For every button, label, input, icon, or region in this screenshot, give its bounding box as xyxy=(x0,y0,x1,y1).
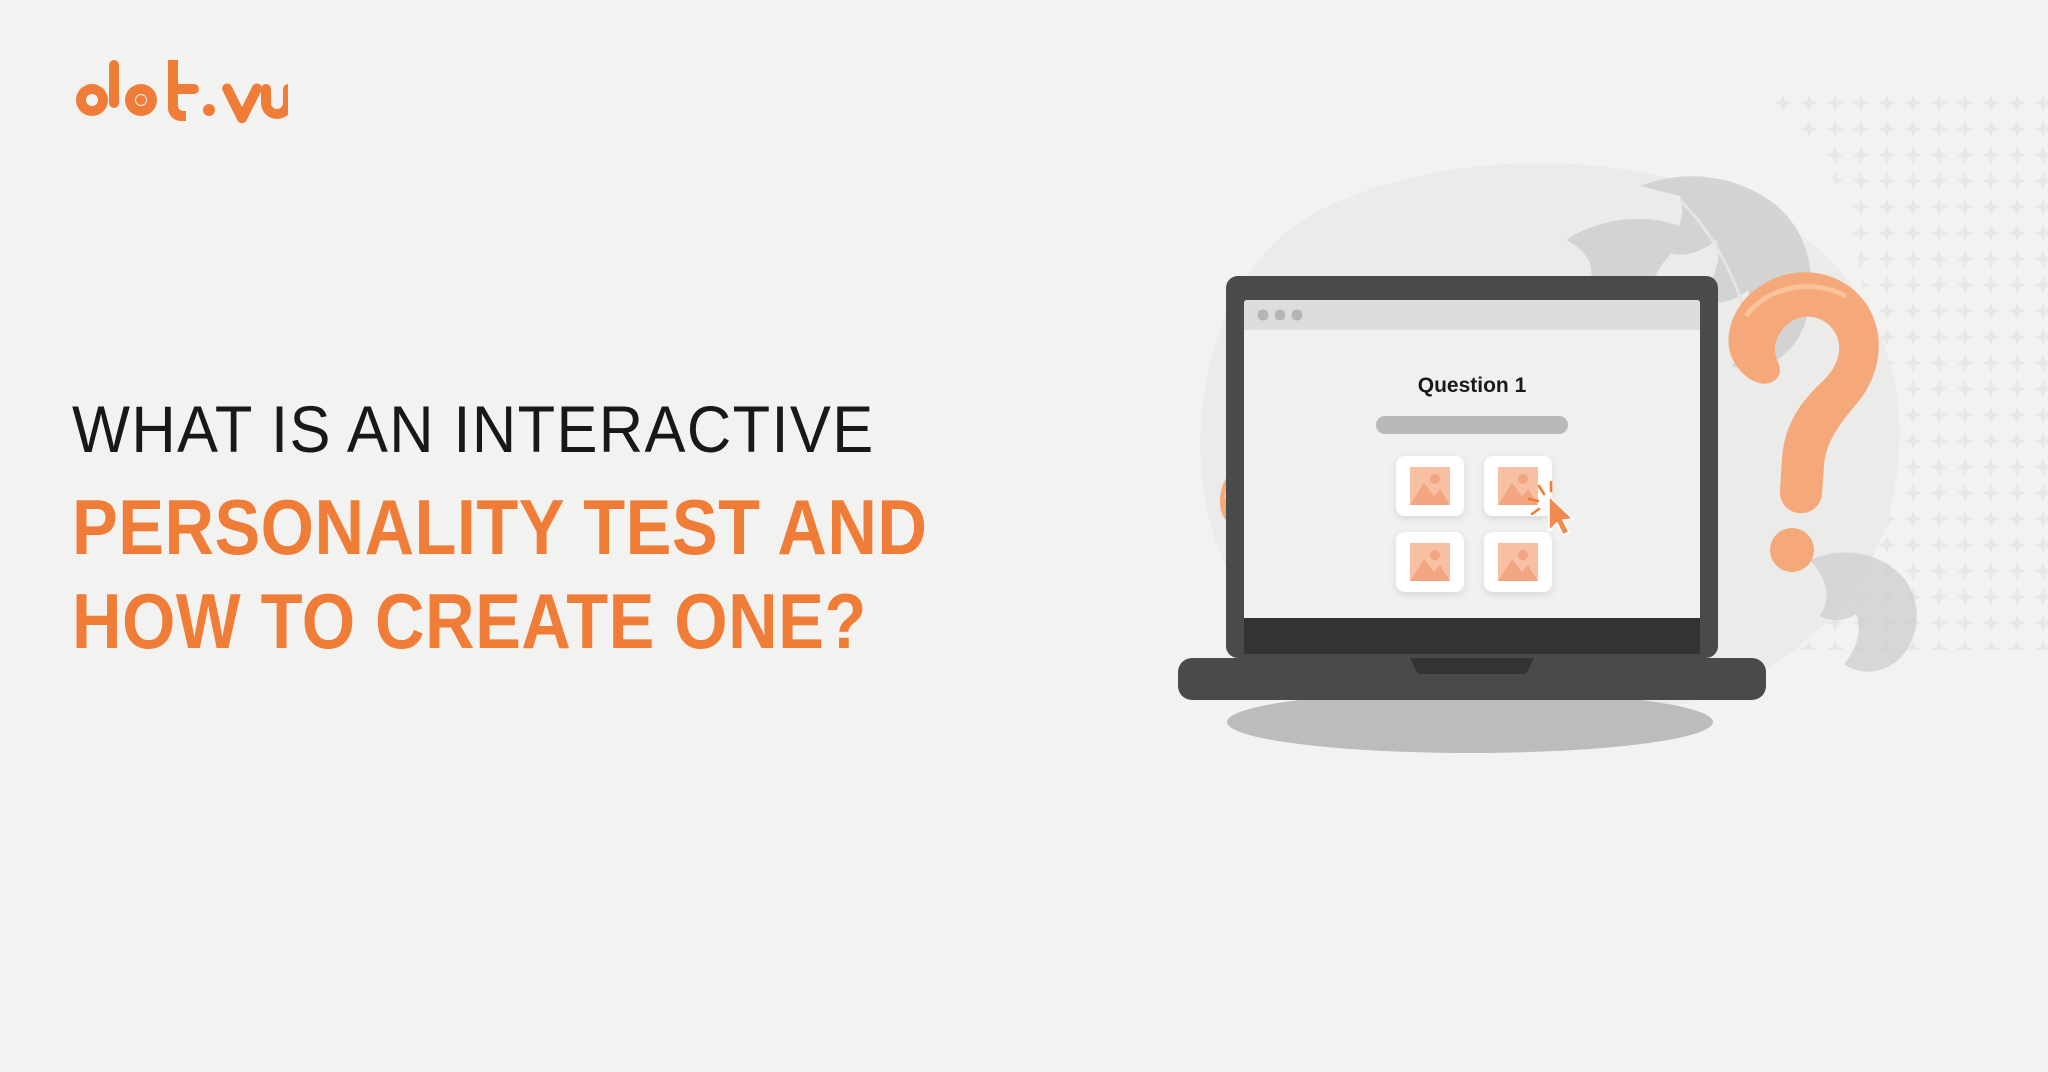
image-placeholder-icon xyxy=(1410,543,1450,581)
logo-glyphs xyxy=(76,60,288,123)
window-dot-1 xyxy=(1258,310,1269,321)
window-titlebar xyxy=(1244,300,1700,330)
banner-root: WHAT IS AN INTERACTIVE PERSONALITY TEST … xyxy=(0,0,2048,1072)
window-dot-3 xyxy=(1292,310,1303,321)
laptop xyxy=(1178,276,1766,700)
image-placeholder-icon xyxy=(1410,467,1450,505)
image-placeholder-icon xyxy=(1498,543,1538,581)
laptop-shadow xyxy=(1227,691,1713,753)
question-title: Question 1 xyxy=(1418,374,1527,397)
hero-illustration: Question 1 xyxy=(1120,90,2048,810)
question-bar xyxy=(1376,416,1568,434)
headline-line-1: WHAT IS AN INTERACTIVE xyxy=(72,395,1049,464)
headline: WHAT IS AN INTERACTIVE PERSONALITY TEST … xyxy=(72,395,1122,660)
window-dot-2 xyxy=(1275,310,1286,321)
dotvu-logo[interactable] xyxy=(58,55,288,130)
headline-line-2: PERSONALITY TEST AND xyxy=(72,488,996,566)
headline-line-3: HOW TO CREATE ONE? xyxy=(72,582,996,660)
